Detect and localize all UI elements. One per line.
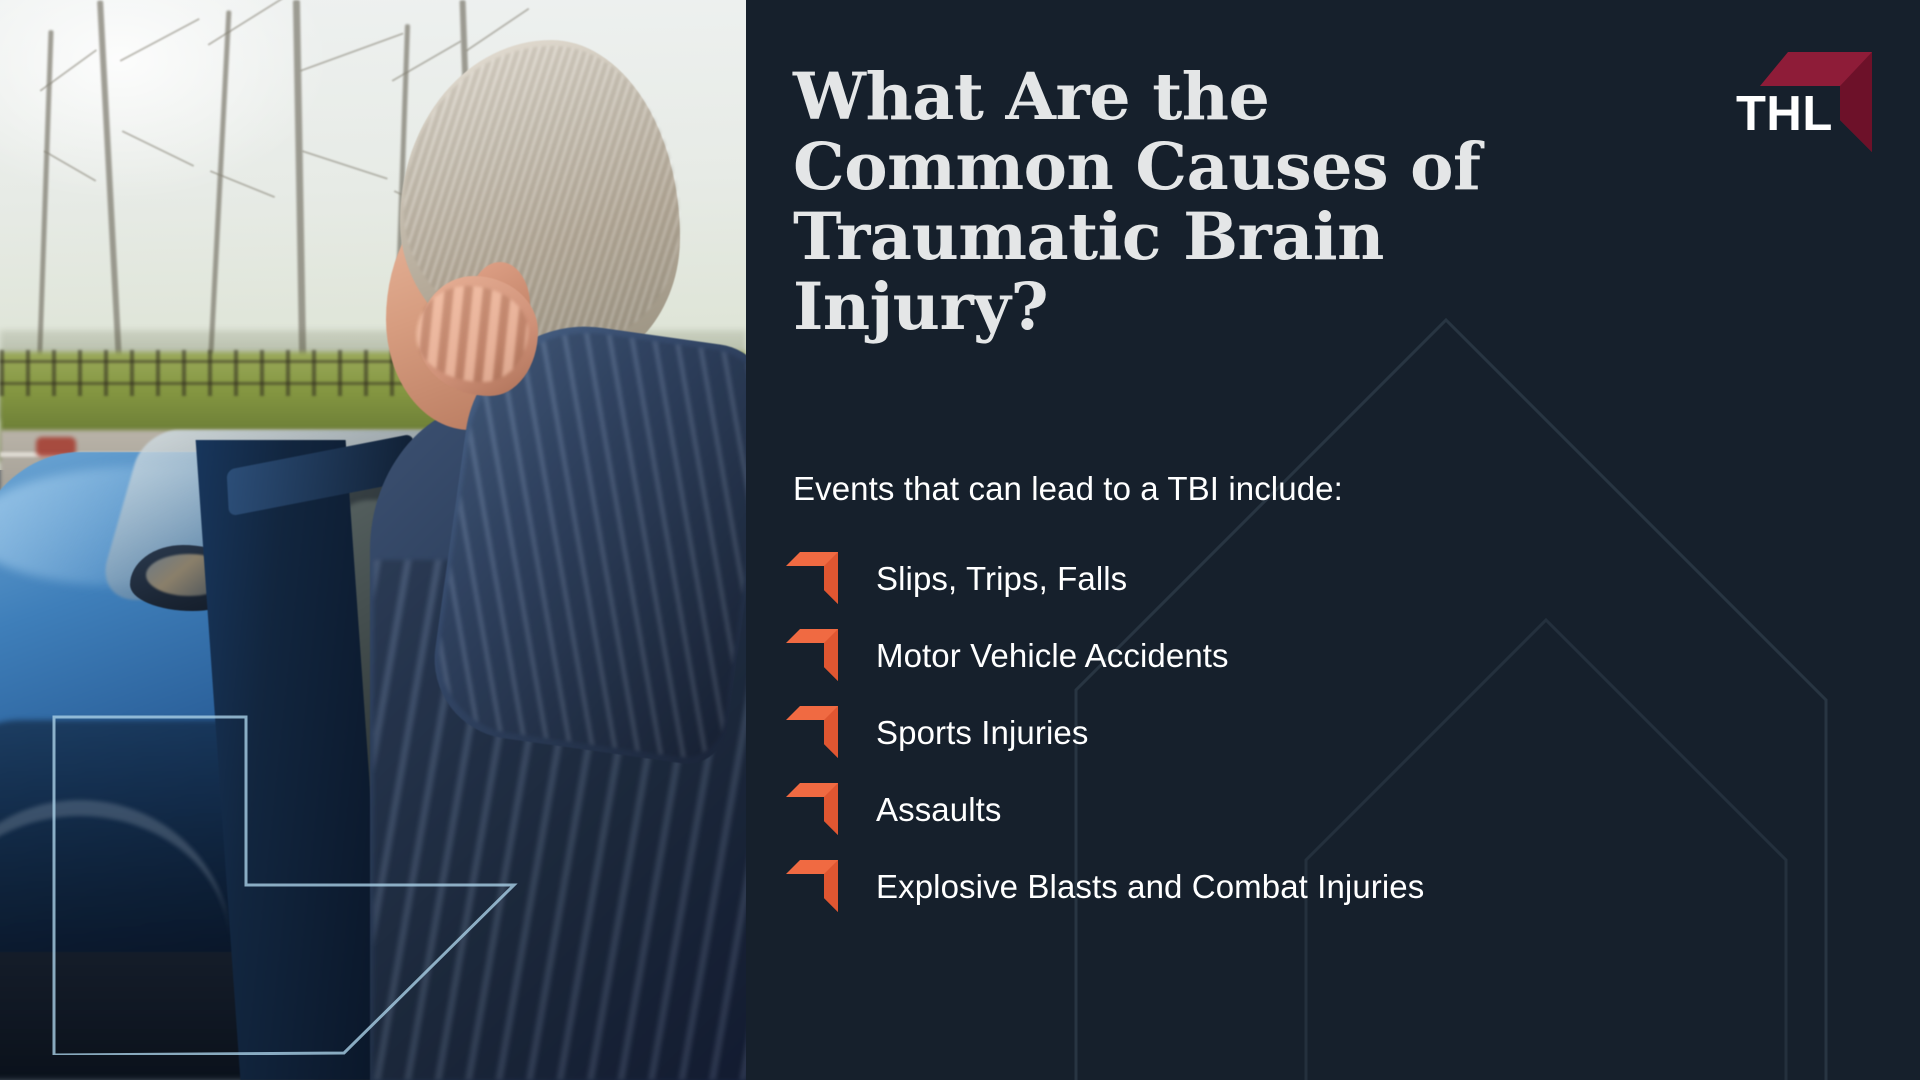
list-item-label: Assaults — [876, 791, 1002, 829]
headline-line-2: Common Causes of — [793, 129, 1480, 205]
chevron-arrow-icon — [786, 625, 838, 681]
headline-line-3: Traumatic Brain — [793, 199, 1384, 275]
headline-line-4: Injury? — [793, 269, 1048, 345]
thl-logo-text: THL — [1736, 90, 1833, 139]
list-item: Slips, Trips, Falls — [786, 540, 1886, 617]
chevron-arrow-icon — [786, 779, 838, 835]
thl-logo[interactable]: THL — [1730, 34, 1872, 152]
chevron-arrow-icon — [786, 856, 838, 912]
page-title: What Are the Common Causes of Traumatic … — [793, 62, 1553, 342]
list-item-label: Motor Vehicle Accidents — [876, 637, 1229, 675]
chevron-arrow-icon — [786, 548, 838, 604]
list-item: Assaults — [786, 771, 1886, 848]
list-item: Sports Injuries — [786, 694, 1886, 771]
car-door-edge — [292, 436, 318, 1080]
list-item: Explosive Blasts and Combat Injuries — [786, 848, 1886, 925]
list-item-label: Explosive Blasts and Combat Injuries — [876, 868, 1424, 906]
photo-illustration — [0, 0, 746, 1080]
photo-panel — [0, 0, 746, 1080]
list-item-label: Sports Injuries — [876, 714, 1088, 752]
infographic-canvas: THL What Are the Common Causes of Trauma… — [0, 0, 1920, 1080]
subhead: Events that can lead to a TBI include: — [793, 470, 1343, 508]
list-item: Motor Vehicle Accidents — [786, 617, 1886, 694]
content-panel: THL What Are the Common Causes of Trauma… — [746, 0, 1920, 1080]
chevron-arrow-icon — [786, 702, 838, 758]
causes-list: Slips, Trips, Falls Motor Vehicle Accide… — [786, 540, 1886, 925]
list-item-label: Slips, Trips, Falls — [876, 560, 1127, 598]
headline-line-1: What Are the — [793, 59, 1269, 135]
